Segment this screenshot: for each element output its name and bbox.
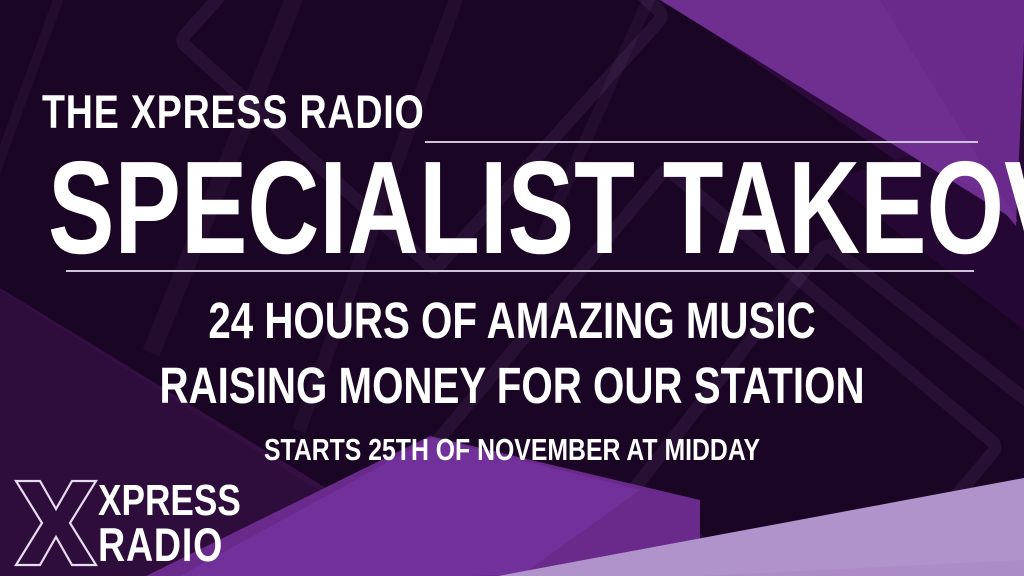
- event-detail-text: STARTS 25TH OF NOVEMBER AT MIDDAY: [102, 434, 921, 465]
- logo-wordmark: XPRESS RADIO: [98, 481, 228, 567]
- logo-line-xpress: XPRESS: [98, 481, 202, 521]
- x-outline-icon: [14, 479, 98, 567]
- logo-line-radio: RADIO: [98, 523, 202, 566]
- subheadline-primary: 24 HOURS OF AMAZING MUSIC: [108, 295, 917, 346]
- divider-middle: [66, 270, 974, 272]
- page-title: SPECIALIST TAKEOVER: [48, 142, 1024, 274]
- xpress-radio-logo: XPRESS RADIO: [14, 477, 224, 569]
- poster-content: THE XPRESS RADIO SPECIALIST TAKEOVER 24 …: [0, 0, 1024, 576]
- poster-canvas: THE XPRESS RADIO SPECIALIST TAKEOVER 24 …: [0, 0, 1024, 576]
- subheadline-secondary: RAISING MONEY FOR OUR STATION: [108, 360, 917, 411]
- kicker-text: THE XPRESS RADIO: [42, 88, 425, 135]
